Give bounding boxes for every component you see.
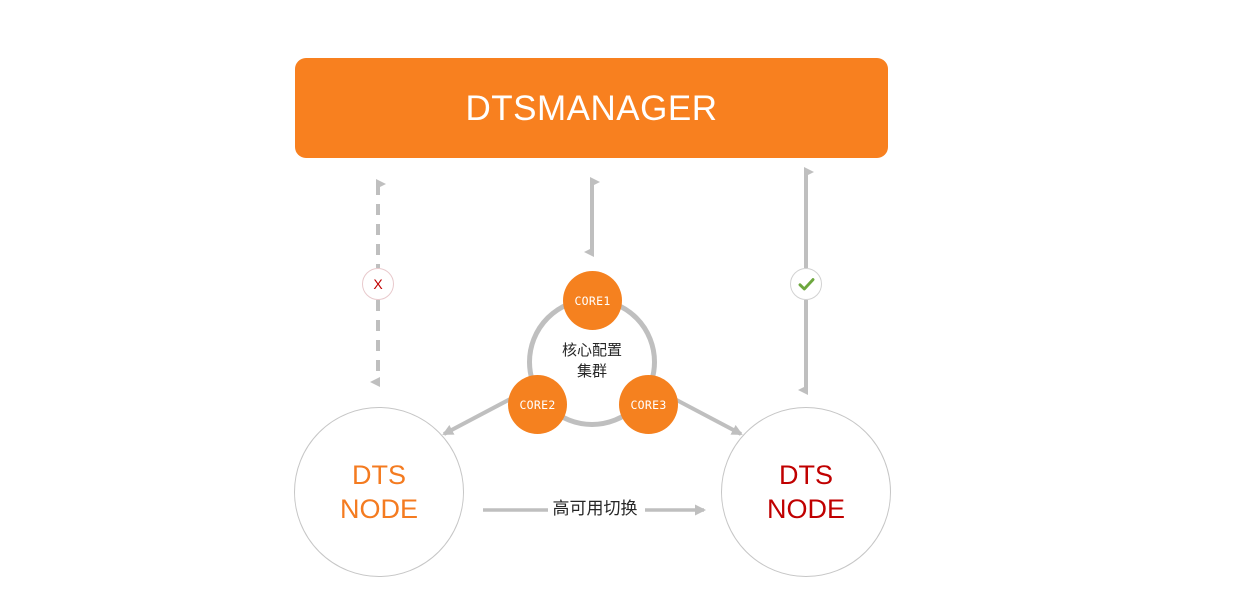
connector-core2-to-left-node	[444, 396, 516, 434]
dts-node-left[interactable]: DTS NODE	[294, 407, 464, 577]
dts-node-right-line2: NODE	[767, 492, 845, 526]
ha-switchover-label: 高可用切换	[520, 498, 670, 520]
core-cluster-label-line1: 核心配置	[532, 340, 652, 361]
diagram-canvas: DTSMANAGER 核心配置 集群 CORE1 CORE2 CORE3 DTS…	[0, 0, 1241, 616]
core-node-3[interactable]: CORE3	[619, 375, 678, 434]
dts-node-right[interactable]: DTS NODE	[721, 407, 891, 577]
core-node-2-label: CORE2	[519, 398, 555, 412]
core-cluster-label: 核心配置 集群	[532, 340, 652, 382]
success-status-badge	[790, 268, 822, 300]
core-node-2[interactable]: CORE2	[508, 375, 567, 434]
dtsmanager-banner[interactable]: DTSMANAGER	[295, 58, 888, 158]
check-mark-icon	[797, 275, 816, 294]
dtsmanager-title: DTSMANAGER	[466, 91, 718, 126]
core-node-1[interactable]: CORE1	[563, 271, 622, 330]
failure-status-badge: X	[362, 268, 394, 300]
connector-core3-to-right-node	[669, 396, 741, 434]
x-mark-icon: X	[373, 277, 382, 291]
core-node-1-label: CORE1	[574, 294, 610, 308]
core-node-3-label: CORE3	[630, 398, 666, 412]
dts-node-left-line2: NODE	[340, 492, 418, 526]
dts-node-right-line1: DTS	[779, 458, 833, 492]
dts-node-left-line1: DTS	[352, 458, 406, 492]
